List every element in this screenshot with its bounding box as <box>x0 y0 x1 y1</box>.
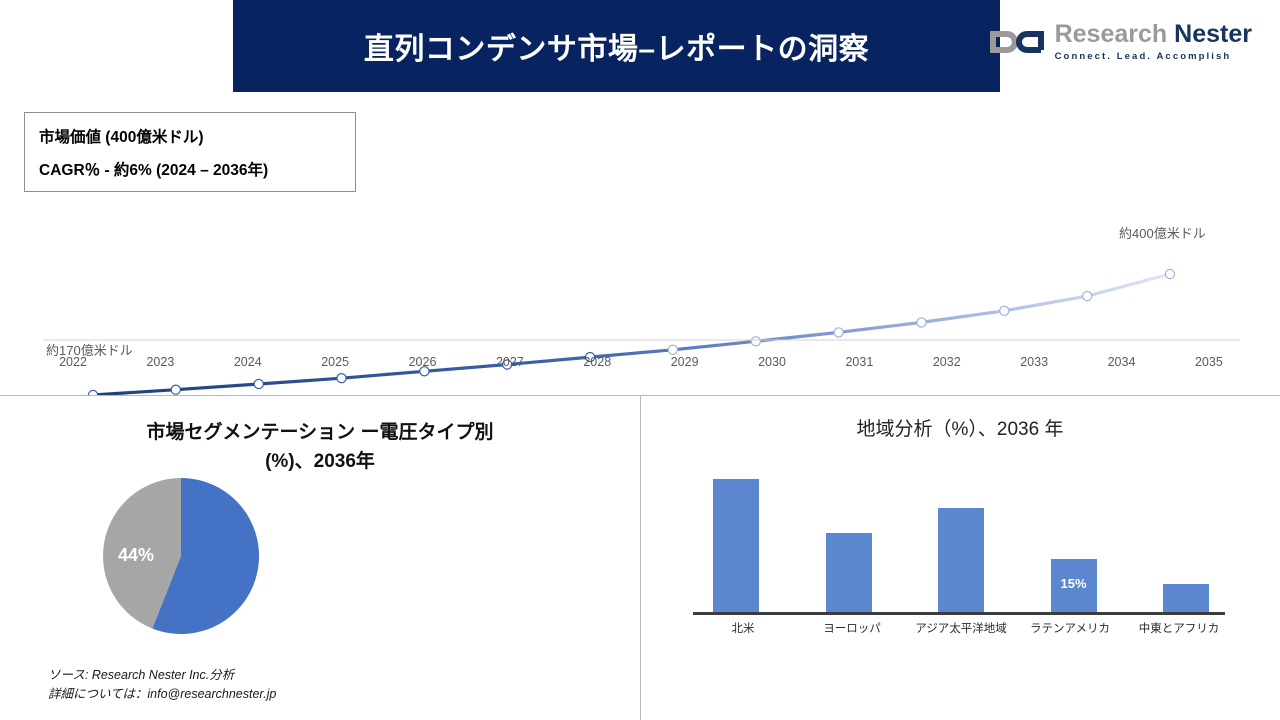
bar-column: 15% <box>1035 468 1113 613</box>
brand-logo: Research Nester Connect. Lead. Accomplis… <box>989 22 1252 62</box>
line-data-point[interactable] <box>1000 306 1009 315</box>
bar-chart-baseline <box>693 612 1225 615</box>
logo-word-nester: Nester <box>1174 22 1252 47</box>
report-infographic-page: 直列コンデンサ市場–レポートの洞察 Research Nester Connec… <box>0 0 1280 720</box>
source-line-1: ソース: Research Nester Inc.分析 <box>48 666 276 685</box>
bar-column <box>810 468 888 613</box>
bar-3[interactable] <box>938 508 984 613</box>
logo-tagline: Connect. Lead. Accomplish <box>1055 52 1252 62</box>
bar-category-label: ラテンアメリカ <box>1024 620 1116 636</box>
bar-column <box>922 468 1000 613</box>
line-chart-canvas <box>0 92 1280 395</box>
x-axis-tick-2023: 2023 <box>130 355 190 369</box>
line-data-point[interactable] <box>668 345 677 354</box>
bar-value-label: 15% <box>1060 576 1086 591</box>
line-data-point[interactable] <box>1083 292 1092 301</box>
line-data-point[interactable] <box>1165 269 1174 278</box>
x-axis-tick-2028: 2028 <box>567 355 627 369</box>
bar-column <box>697 468 775 613</box>
x-axis-tick-2033: 2033 <box>1004 355 1064 369</box>
logo-wordmark: Research Nester Connect. Lead. Accomplis… <box>1055 22 1252 62</box>
bar-5[interactable] <box>1163 584 1209 613</box>
voltage-type-pie-chart <box>81 476 281 636</box>
x-axis-tick-2031: 2031 <box>829 355 889 369</box>
bar-column <box>1147 468 1225 613</box>
x-axis-tick-2034: 2034 <box>1092 355 1152 369</box>
regional-analysis-title: 地域分析（%）、2036 年 <box>640 414 1280 441</box>
line-data-point[interactable] <box>834 328 843 337</box>
line-data-point[interactable] <box>254 379 263 388</box>
source-line-2: 詳細については：info@researchnester.jp <box>48 685 276 704</box>
source-note: ソース: Research Nester Inc.分析 詳細については：info… <box>48 666 276 704</box>
bar-1[interactable] <box>713 479 759 613</box>
header-banner: 直列コンデンサ市場–レポートの洞察 <box>233 0 1000 92</box>
bar-category-label: 中東とアフリカ <box>1133 620 1225 636</box>
page-title: 直列コンデンサ市場–レポートの洞察 <box>364 24 869 68</box>
bar-4[interactable]: 15% <box>1051 559 1097 613</box>
line-chart-axis-rule <box>43 339 1240 341</box>
line-data-point[interactable] <box>171 385 180 394</box>
bar-category-label: ヨーロッパ <box>806 620 898 636</box>
x-axis-tick-2030: 2030 <box>742 355 802 369</box>
x-axis-tick-2032: 2032 <box>917 355 977 369</box>
regional-bar-chart: 15% <box>697 468 1225 613</box>
bar-chart-x-axis: 北米ヨーロッパアジア太平洋地域ラテンアメリカ中東とアフリカ <box>697 620 1225 636</box>
line-data-point[interactable] <box>337 374 346 383</box>
x-axis-tick-2027: 2027 <box>480 355 540 369</box>
segmentation-title: 市場セグメンテーション ー電圧タイプ別 (%)、2036年 <box>40 418 600 477</box>
x-axis-tick-2022: 2022 <box>43 355 103 369</box>
x-axis-tick-2024: 2024 <box>218 355 278 369</box>
line-chart-x-axis: 2022202320242025202620272028202920302031… <box>43 355 1239 369</box>
bar-category-label: 北米 <box>697 620 789 636</box>
logo-word-research: Research <box>1055 22 1168 47</box>
pie-slice-value-label: 44% <box>118 545 154 566</box>
line-data-point[interactable] <box>917 318 926 327</box>
interlocking-links-icon <box>989 24 1045 60</box>
x-axis-tick-2025: 2025 <box>305 355 365 369</box>
x-axis-tick-2035: 2035 <box>1179 355 1239 369</box>
line-end-value-label: 約400億米ドル <box>1119 223 1206 242</box>
x-axis-tick-2026: 2026 <box>393 355 453 369</box>
regional-analysis-panel: 地域分析（%）、2036 年 15% 北米ヨーロッパアジア太平洋地域ラテンアメリ… <box>640 396 1280 720</box>
segmentation-title-line-1: 市場セグメンテーション ー電圧タイプ別 <box>147 422 494 443</box>
segmentation-title-line-2: (%)、2036年 <box>40 447 600 476</box>
bar-2[interactable] <box>826 533 872 613</box>
x-axis-tick-2029: 2029 <box>655 355 715 369</box>
bar-category-label: アジア太平洋地域 <box>915 620 1007 636</box>
market-size-line-chart: 約170億米ドル 約400億米ドル <box>0 92 1280 395</box>
